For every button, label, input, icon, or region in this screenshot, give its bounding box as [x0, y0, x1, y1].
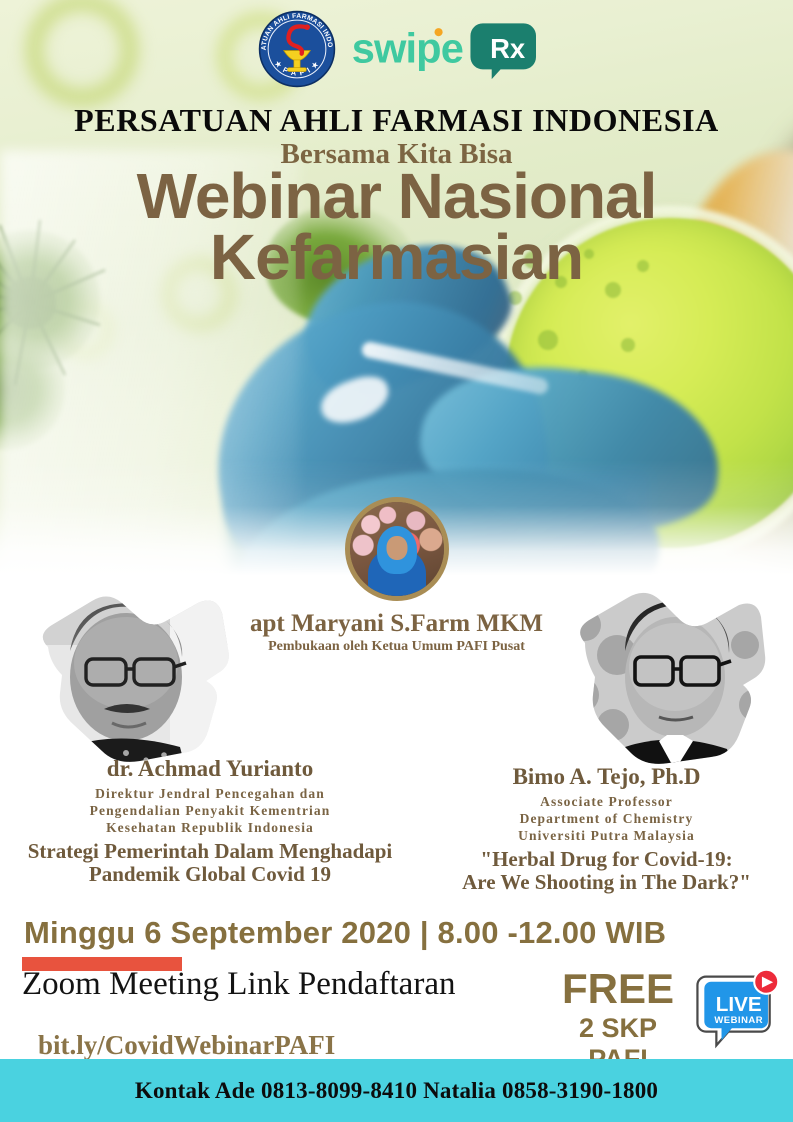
affiliation-line: Kesehatan Republik Indonesia	[0, 820, 420, 837]
affiliation-line: Direktur Jendral Pencegahan dan	[0, 786, 420, 803]
speaker-name: Bimo A. Tejo, Ph.D	[420, 765, 793, 789]
speaker-affiliation: Direktur Jendral Pencegahan dan Pengenda…	[0, 786, 420, 837]
host-role: Pembukaan oleh Ketua Umum PAFI Pusat	[0, 639, 793, 655]
svg-text:Rx: Rx	[490, 33, 526, 64]
registration-label: Zoom Meeting Link Pendaftaran	[22, 966, 455, 1003]
svg-text:swipe: swipe	[351, 24, 462, 71]
swiperx-logo-icon: swipe Rx	[350, 18, 536, 80]
live-badge-line1: LIVE	[716, 993, 762, 1016]
registration-link[interactable]: bit.ly/CovidWebinarPAFI	[38, 1030, 335, 1061]
contact-bar: Kontak Ade 0813-8099-8410 Natalia 0858-3…	[0, 1059, 793, 1122]
logo-row: PERSATUAN AHLI FARMASI INDONESIA ★ P A F…	[0, 6, 793, 92]
event-datetime: Minggu 6 September 2020 | 8.00 -12.00 WI…	[24, 915, 666, 951]
speaker-affiliation: Associate Professor Department of Chemis…	[420, 794, 793, 845]
free-label: FREE	[548, 968, 688, 1010]
topic-line: Pandemik Global Covid 19	[0, 863, 420, 886]
topic-line: "Herbal Drug for Covid-19:	[420, 848, 793, 871]
affiliation-line: Department of Chemistry	[420, 811, 793, 828]
speaker-block-left: dr. Achmad Yurianto Direktur Jendral Pen…	[0, 757, 420, 886]
host-block: apt Maryani S.Farm MKM Pembukaan oleh Ke…	[0, 497, 793, 655]
host-avatar-face	[386, 536, 407, 560]
host-name: apt Maryani S.Farm MKM	[0, 610, 793, 638]
live-badge-line2: WEBINAR	[714, 1015, 763, 1026]
affiliation-line: Pengendalian Penyakit Kementrian	[0, 803, 420, 820]
webinar-poster: PERSATUAN AHLI FARMASI INDONESIA ★ P A F…	[0, 0, 793, 1122]
title-line-2: Kefarmasian	[0, 227, 793, 288]
topic-line: Are We Shooting in The Dark?"	[420, 871, 793, 894]
speaker-block-right: Bimo A. Tejo, Ph.D Associate Professor D…	[420, 765, 793, 894]
affiliation-line: Universiti Putra Malaysia	[420, 828, 793, 845]
pafi-logo-icon: PERSATUAN AHLI FARMASI INDONESIA ★ P A F…	[258, 10, 336, 88]
page-title: Webinar Nasional Kefarmasian	[0, 166, 793, 289]
affiliation-line: Associate Professor	[420, 794, 793, 811]
host-avatar	[345, 497, 449, 601]
speaker-name: dr. Achmad Yurianto	[0, 757, 420, 781]
speaker-topic: "Herbal Drug for Covid-19: Are We Shooti…	[420, 848, 793, 894]
speaker-topic: Strategi Pemerintah Dalam Menghadapi Pan…	[0, 840, 420, 886]
organisation-name: PERSATUAN AHLI FARMASI INDONESIA	[0, 102, 793, 139]
contact-text: Kontak Ade 0813-8099-8410 Natalia 0858-3…	[135, 1078, 658, 1104]
live-webinar-badge-icon: LIVE WEBINAR	[694, 968, 780, 1054]
topic-line: Strategi Pemerintah Dalam Menghadapi	[0, 840, 420, 863]
